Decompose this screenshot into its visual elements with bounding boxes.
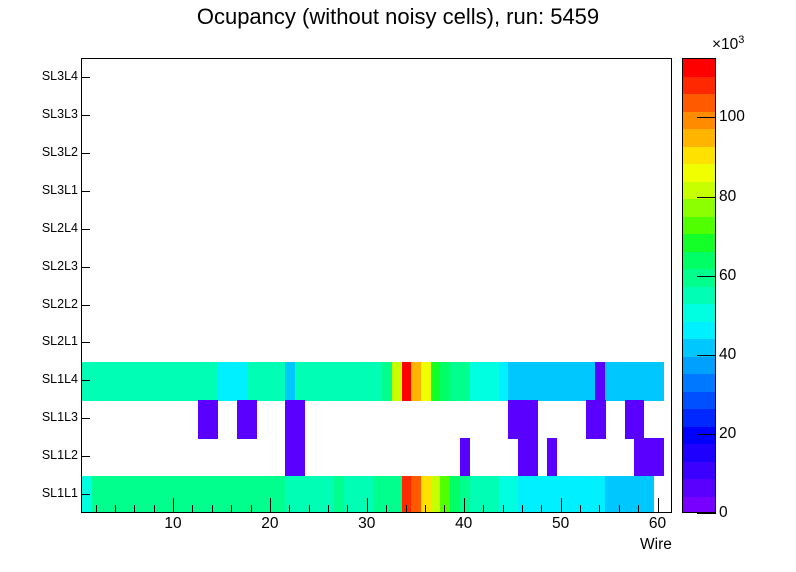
color-palette-bar[interactable] xyxy=(682,58,716,513)
x-axis-title: Wire xyxy=(640,536,672,554)
x-axis-tick xyxy=(444,505,445,513)
x-axis-tick xyxy=(309,505,310,513)
palette-tick-label: 0 xyxy=(719,504,728,522)
heatmap-cell xyxy=(373,476,402,513)
palette-slice xyxy=(683,427,715,445)
heatmap-cell xyxy=(508,400,537,438)
x-axis-tick xyxy=(386,505,387,513)
palette-tick xyxy=(697,276,716,277)
x-axis-tick xyxy=(173,498,174,513)
heatmap-cell xyxy=(431,362,441,400)
heatmap-cell xyxy=(460,476,470,513)
heatmap-cell xyxy=(285,400,305,438)
x-axis-tick xyxy=(599,505,600,513)
y-axis-label-sl3l2: SL3L2 xyxy=(8,145,78,159)
palette-slice xyxy=(683,479,715,497)
palette-exponent: ×103 xyxy=(712,34,744,54)
x-axis-tick xyxy=(154,505,155,513)
palette-tick-label: 40 xyxy=(719,346,736,364)
x-axis-tick xyxy=(347,505,348,513)
y-axis-tick xyxy=(81,229,90,230)
y-axis-tick xyxy=(81,456,90,457)
palette-slice xyxy=(683,287,715,305)
heatmap-cell xyxy=(470,476,499,513)
y-axis-label-sl1l4: SL1L4 xyxy=(8,372,78,386)
palette-slice xyxy=(683,164,715,182)
palette-tick xyxy=(697,513,716,514)
heatmap-cell xyxy=(440,362,450,400)
y-axis-tick xyxy=(81,267,90,268)
y-axis-label-sl2l4: SL2L4 xyxy=(8,221,78,235)
y-axis-labels: SL3L4SL3L3SL3L2SL3L1SL2L4SL2L3SL2L2SL2L1… xyxy=(0,0,78,572)
heatmap-cell xyxy=(92,476,286,513)
heatmap-cell xyxy=(218,362,247,400)
palette-slice xyxy=(683,269,715,287)
x-axis-tick xyxy=(522,505,523,513)
palette-slice xyxy=(683,77,715,95)
heatmap-cell xyxy=(411,362,421,400)
y-axis-tick xyxy=(81,380,90,381)
y-axis-label-sl3l3: SL3L3 xyxy=(8,107,78,121)
palette-slice xyxy=(683,217,715,235)
y-axis-label-sl2l3: SL2L3 xyxy=(8,259,78,273)
heatmap-cell xyxy=(547,438,557,476)
y-axis-label-sl2l1: SL2L1 xyxy=(8,334,78,348)
heatmap-cell xyxy=(450,476,460,513)
palette-tick-label: 60 xyxy=(719,267,736,285)
y-axis-label-sl1l1: SL1L1 xyxy=(8,486,78,500)
palette-slice xyxy=(683,199,715,217)
y-axis-tick xyxy=(81,494,90,495)
heatmap-cell xyxy=(431,476,441,513)
x-axis-tick xyxy=(328,505,329,513)
palette-tick-label: 20 xyxy=(719,425,736,443)
x-axis-tick-label: 10 xyxy=(164,515,181,533)
heatmap-cell xyxy=(595,362,605,400)
palette-tick xyxy=(697,117,716,118)
y-axis-label-sl2l2: SL2L2 xyxy=(8,297,78,311)
y-axis-tick xyxy=(81,191,90,192)
x-axis-tick-label: 50 xyxy=(552,515,569,533)
heatmap-cell xyxy=(82,362,218,400)
heatmap-cell xyxy=(625,400,645,438)
x-axis-tick xyxy=(580,505,581,513)
palette-slice xyxy=(683,94,715,112)
palette-tick xyxy=(697,434,716,435)
y-axis-tick xyxy=(81,418,90,419)
heatmap-cell xyxy=(334,476,344,513)
heatmap-cell xyxy=(421,362,431,400)
x-axis-tick xyxy=(270,498,271,513)
heatmap-cell xyxy=(421,476,431,513)
heatmap-cell xyxy=(499,362,509,400)
heatmap-cell xyxy=(198,400,218,438)
y-axis-label-sl1l3: SL1L3 xyxy=(8,410,78,424)
palette-tick-label: 80 xyxy=(719,188,736,206)
heatmap-cell xyxy=(402,362,412,400)
x-axis-tick xyxy=(619,505,620,513)
chart-title: Ocupancy (without noisy cells), run: 545… xyxy=(0,4,796,30)
heatmap-cell xyxy=(285,438,305,476)
x-axis-tick xyxy=(134,505,135,513)
heatmap-cell xyxy=(382,362,392,400)
x-axis-tick xyxy=(638,505,639,513)
x-axis-tick xyxy=(231,505,232,513)
heatmap-cell xyxy=(634,438,663,476)
x-axis-tick xyxy=(483,505,484,513)
x-axis-tick xyxy=(464,498,465,513)
heatmap-cell xyxy=(392,362,402,400)
palette-slice xyxy=(683,392,715,410)
x-axis-tick-label: 30 xyxy=(358,515,375,533)
palette-tick xyxy=(697,197,716,198)
x-axis-tick-label: 20 xyxy=(261,515,278,533)
heatmap-cells xyxy=(82,59,671,512)
y-axis-label-sl3l1: SL3L1 xyxy=(8,183,78,197)
palette-slice xyxy=(683,374,715,392)
x-axis-tick xyxy=(658,498,659,513)
palette-slice xyxy=(683,234,715,252)
x-axis-tick-label: 60 xyxy=(649,515,666,533)
palette-tick xyxy=(697,355,716,356)
root-canvas: Ocupancy (without noisy cells), run: 545… xyxy=(0,0,796,572)
heatmap-cell xyxy=(518,438,538,476)
palette-slice xyxy=(683,59,715,77)
x-axis-tick xyxy=(406,505,407,513)
heatmap-cell xyxy=(440,476,450,513)
x-axis-tick xyxy=(503,505,504,513)
heatmap-cell xyxy=(605,476,654,513)
y-axis-tick xyxy=(81,153,90,154)
x-axis-tick xyxy=(251,505,252,513)
heatmap-cell xyxy=(470,362,499,400)
y-axis-label-sl3l4: SL3L4 xyxy=(8,69,78,83)
palette-slice xyxy=(683,462,715,480)
y-axis-tick xyxy=(81,77,90,78)
heatmap-cell xyxy=(586,400,606,438)
palette-slice xyxy=(683,252,715,270)
heatmap-cell xyxy=(285,362,295,400)
x-axis-tick xyxy=(115,505,116,513)
palette-slice xyxy=(683,444,715,462)
x-axis-tick xyxy=(425,505,426,513)
palette-slice xyxy=(683,112,715,130)
x-axis-tick xyxy=(289,505,290,513)
x-axis-tick xyxy=(561,498,562,513)
y-axis-tick xyxy=(81,342,90,343)
x-axis-tick xyxy=(212,505,213,513)
palette-slice xyxy=(683,322,715,340)
x-axis-tick xyxy=(96,505,97,513)
heatmap-cell xyxy=(237,400,257,438)
x-axis-tick-label: 40 xyxy=(455,515,472,533)
palette-tick-label: 100 xyxy=(719,108,745,126)
plot-frame[interactable] xyxy=(81,58,672,513)
x-axis-tick xyxy=(541,505,542,513)
heatmap-cell xyxy=(285,476,334,513)
heatmap-cell xyxy=(450,362,470,400)
y-axis-label-sl1l2: SL1L2 xyxy=(8,448,78,462)
x-axis-tick xyxy=(367,498,368,513)
heatmap-cell xyxy=(605,362,664,400)
heatmap-cell xyxy=(508,362,596,400)
y-axis-tick xyxy=(81,115,90,116)
palette-slice xyxy=(683,357,715,375)
heatmap-cell xyxy=(295,362,383,400)
heatmap-cell xyxy=(411,476,421,513)
x-axis-tick xyxy=(192,505,193,513)
palette-slice xyxy=(683,497,715,514)
y-axis-tick xyxy=(81,305,90,306)
heatmap-cell xyxy=(402,476,412,513)
palette-slice xyxy=(683,147,715,165)
heatmap-cell xyxy=(460,438,470,476)
heatmap-cell xyxy=(518,476,606,513)
heatmap-cell xyxy=(247,362,286,400)
palette-slice xyxy=(683,129,715,147)
palette-slice xyxy=(683,409,715,427)
palette-slice xyxy=(683,304,715,322)
